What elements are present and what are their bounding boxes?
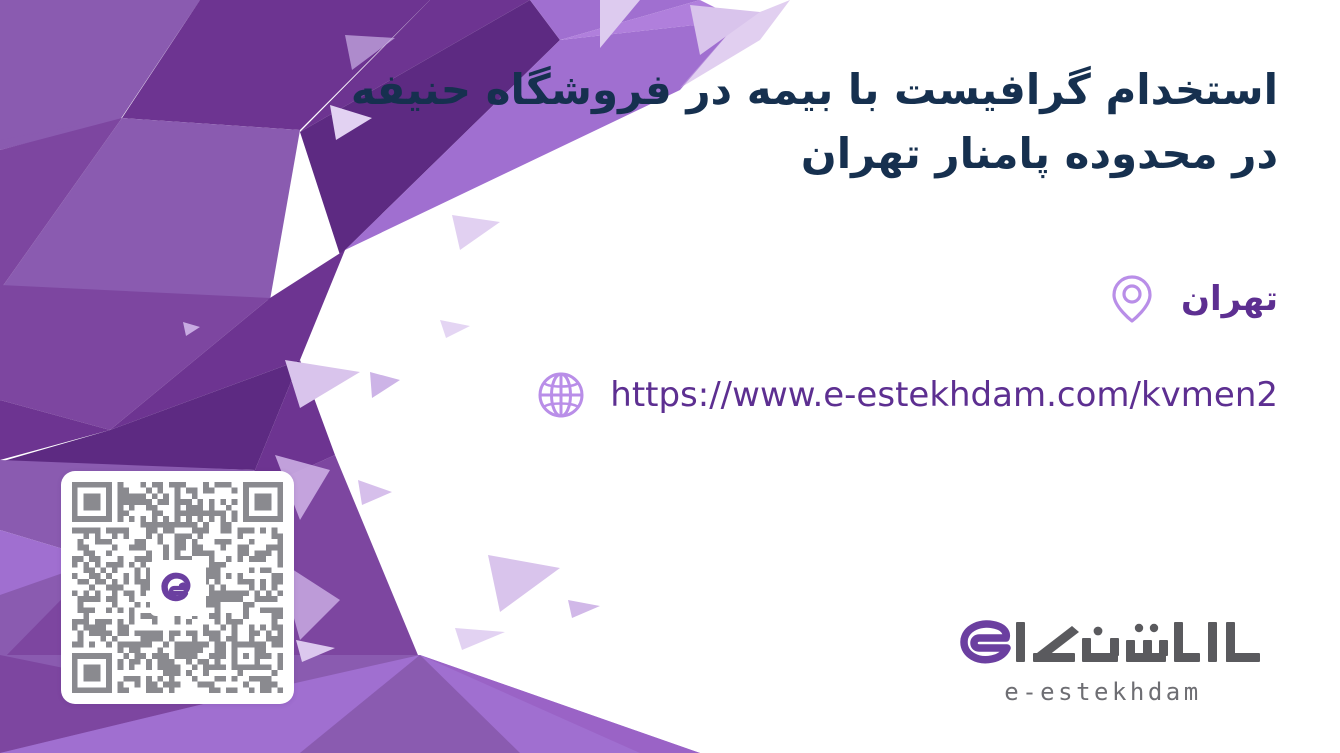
url-value[interactable]: https://www.e-estekhdam.com/kvmen2 [610, 375, 1278, 415]
title-line-1: استخدام گرافیست با بیمه در فروشگاه حنیفه [358, 58, 1278, 122]
map-pin-icon [1105, 272, 1159, 326]
qr-modules [72, 482, 283, 693]
job-share-card: استخدام گرافیست با بیمه در فروشگاه حنیفه… [0, 0, 1340, 753]
title-line-2: در محدوده پامنار تهران [358, 122, 1278, 186]
location-value: تهران [1181, 279, 1278, 319]
location-row: تهران [1105, 272, 1278, 326]
qr-center-logo [150, 560, 206, 616]
brand-logo: e-estekhdam [938, 612, 1268, 712]
page-title: استخدام گرافیست با بیمه در فروشگاه حنیفه… [358, 58, 1278, 186]
brand-wordmark-fa [938, 612, 1268, 674]
url-row[interactable]: https://www.e-estekhdam.com/kvmen2 [534, 368, 1278, 422]
brand-wordmark-en: e-estekhdam [938, 678, 1268, 706]
globe-icon [534, 368, 588, 422]
qr-code[interactable] [61, 471, 294, 704]
